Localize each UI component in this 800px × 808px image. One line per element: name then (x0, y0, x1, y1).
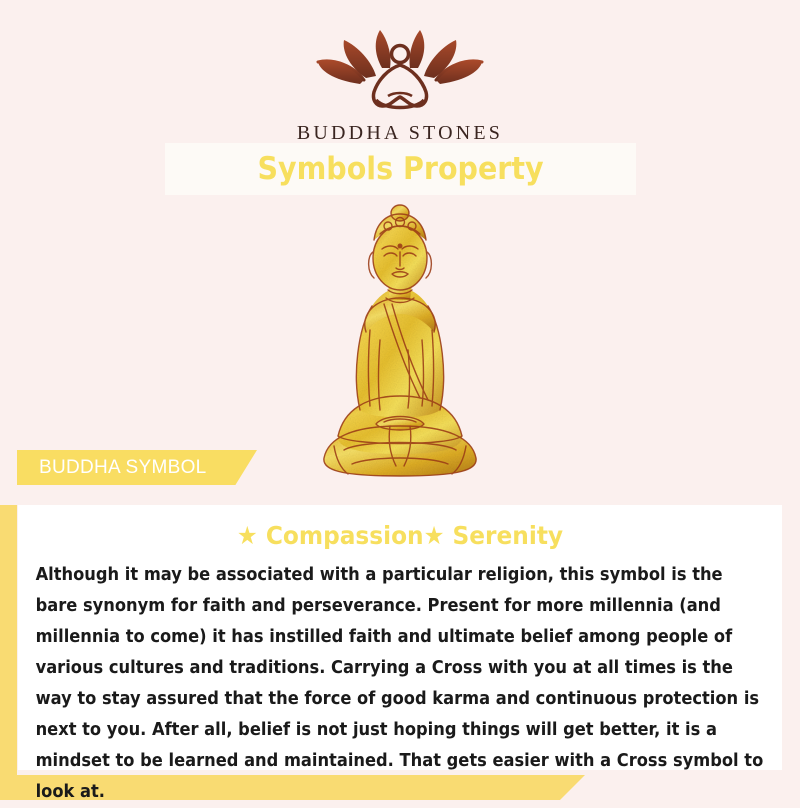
lotus-meditation-figure-icon (310, 22, 490, 118)
header-section: BUDDHA STONES Symbols Property (0, 0, 800, 505)
content-subtitle: ★ Compassion★ Serenity (56, 521, 744, 550)
page-title: Symbols Property (257, 151, 543, 187)
content-paragraph: Although it may be associated with a par… (30, 560, 770, 808)
buddha-statue-image (300, 200, 500, 490)
buddha-symbol-ribbon: BUDDHA SYMBOL (17, 450, 257, 485)
brand-logo: BUDDHA STONES (0, 22, 800, 145)
content-card: ★ Compassion★ Serenity Although it may b… (18, 505, 782, 770)
buddha-symbol-label: BUDDHA SYMBOL (17, 457, 207, 479)
page-title-banner: Symbols Property (165, 143, 636, 195)
brand-name: BUDDHA STONES (0, 122, 800, 145)
